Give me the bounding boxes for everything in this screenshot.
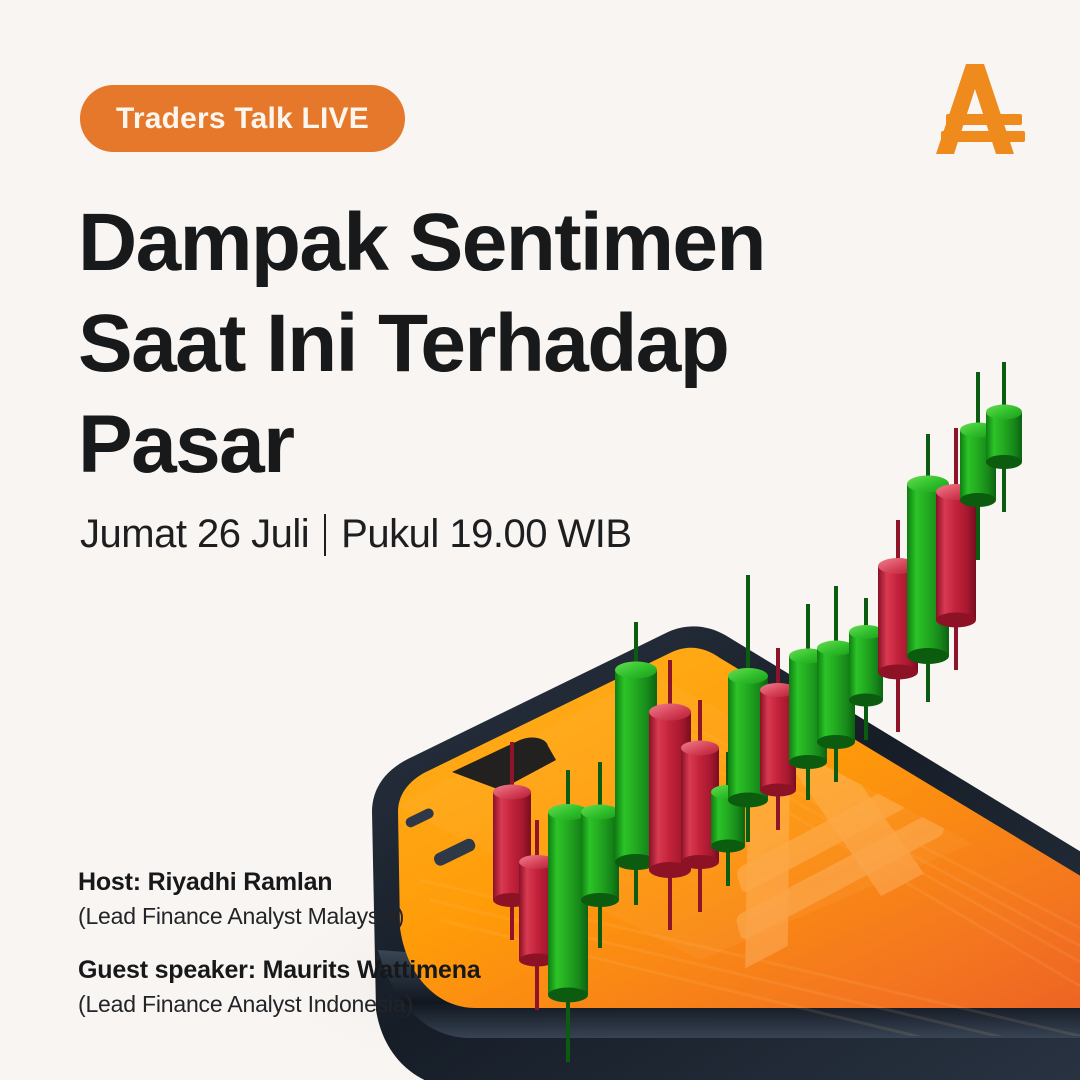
schedule-line: Jumat 26 Juli Pukul 19.00 WIB	[80, 512, 632, 557]
live-badge[interactable]: Traders Talk LIVE	[80, 85, 405, 152]
host-role: (Lead Finance Analyst Malaysia)	[78, 903, 481, 930]
guest-role: (Lead Finance Analyst Indonesia)	[78, 991, 481, 1018]
credit-host: Host: Riyadhi Ramlan (Lead Finance Analy…	[78, 868, 481, 930]
promo-poster: Traders Talk LIVE Dampak Sentimen Saat I…	[0, 0, 1080, 1080]
headline-line-3: Pasar	[78, 394, 798, 495]
credits: Host: Riyadhi Ramlan (Lead Finance Analy…	[78, 868, 481, 1018]
live-badge-label: Traders Talk LIVE	[116, 102, 369, 136]
headline-line-2: Saat Ini Terhadap	[78, 293, 798, 394]
guest-name: Guest speaker: Maurits Wattimena	[78, 956, 481, 985]
brand-a-logo	[932, 58, 1028, 158]
schedule-time: Pukul 19.00 WIB	[341, 512, 631, 557]
host-name: Host: Riyadhi Ramlan	[78, 868, 481, 897]
page-title: Dampak Sentimen Saat Ini Terhadap Pasar	[78, 192, 798, 495]
schedule-date: Jumat 26 Juli	[80, 512, 309, 557]
headline-line-1: Dampak Sentimen	[78, 192, 798, 293]
credit-guest: Guest speaker: Maurits Wattimena (Lead F…	[78, 956, 481, 1018]
schedule-divider	[324, 514, 326, 556]
